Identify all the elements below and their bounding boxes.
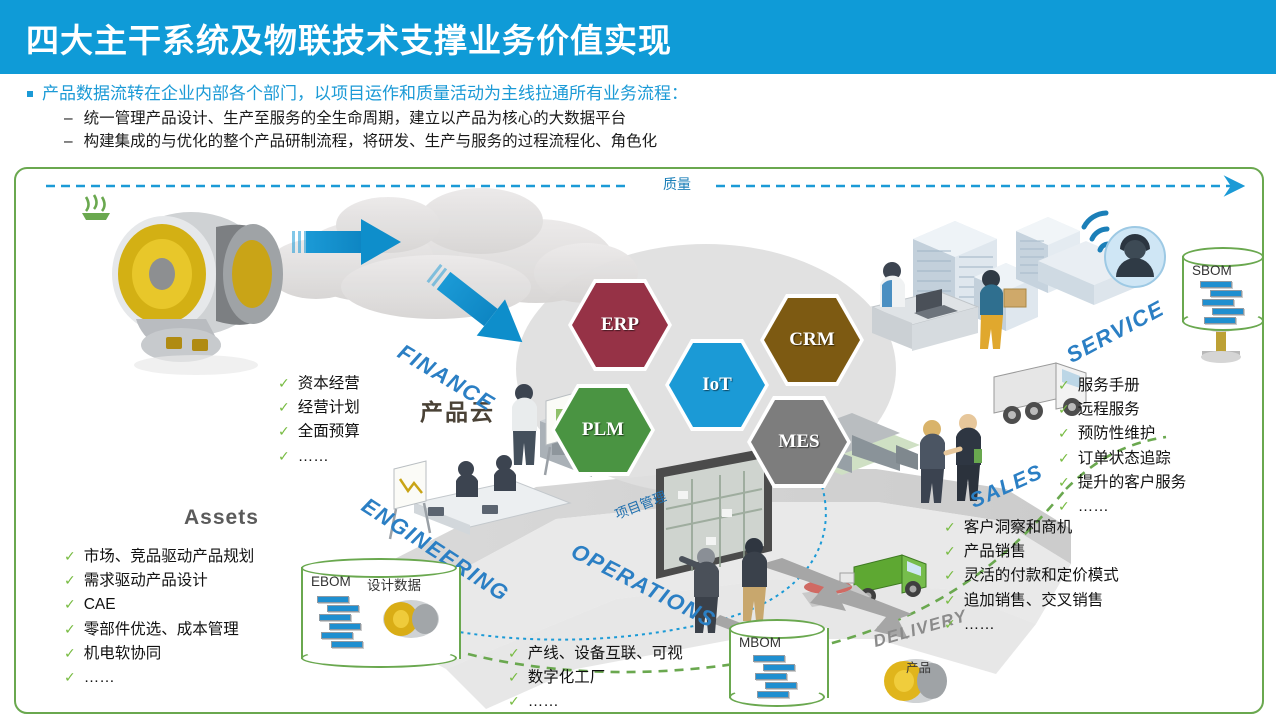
check-icon: ✓ — [508, 667, 520, 689]
check-icon: ✓ — [278, 446, 290, 468]
list-item: ✓灵活的付款和定价模式 — [944, 564, 1119, 588]
dash-bullet-icon: – — [64, 130, 73, 153]
bullet-level2-text: 构建集成的与优化的整个产品研制流程，将研发、生产与服务的过程流程化、角色化 — [84, 130, 658, 153]
check-icon: ✓ — [1058, 496, 1070, 518]
cylinder-ebom-label2: 设计数据 — [367, 574, 421, 594]
dash-bullet-icon: – — [64, 107, 73, 130]
check-icon: ✓ — [64, 570, 76, 592]
list-item-label: 产品销售 — [964, 540, 1026, 564]
check-icon: ✓ — [508, 691, 520, 713]
list-item-label: 灵活的付款和定价模式 — [964, 564, 1119, 588]
list-item: ✓市场、竞品驱动产品规划 — [64, 545, 254, 569]
checklist-finance: ✓资本经营 ✓经营计划 ✓全面预算 ✓…… — [278, 372, 360, 469]
list-item-label: 订单状态追踪 — [1078, 447, 1171, 471]
check-icon: ✓ — [944, 517, 956, 539]
assets-label: Assets — [184, 506, 259, 530]
list-item-label: 资本经营 — [298, 372, 360, 396]
jet-engine-image — [112, 212, 283, 375]
list-item: ✓资本经营 — [278, 372, 360, 396]
steam-icon — [82, 195, 110, 220]
checklist-engineering: ✓市场、竞品驱动产品规划 ✓需求驱动产品设计 ✓CAE ✓零部件优选、成本管理 … — [64, 545, 254, 690]
list-item: ✓…… — [64, 666, 254, 690]
check-icon: ✓ — [64, 619, 76, 641]
cylinder-mbom[interactable]: MBOM — [729, 619, 825, 707]
engine-thumb-icon — [379, 594, 443, 644]
list-item-label: 客户洞察和商机 — [964, 516, 1073, 540]
list-item-label: …… — [964, 613, 995, 637]
check-icon: ✓ — [64, 594, 76, 616]
bullet-level2: – 构建集成的与优化的整个产品研制流程，将研发、生产与服务的过程流程化、角色化 — [64, 130, 1250, 153]
list-item-label: …… — [1078, 495, 1109, 519]
support-agent-avatar — [1105, 227, 1165, 287]
bullet-level2-text: 统一管理产品设计、生产至服务的全生命周期，建立以产品为核心的大数据平台 — [84, 107, 627, 130]
checklist-operations: ✓产线、设备互联、可视 ✓数字化工厂 ✓…… — [508, 642, 683, 714]
documents-icon — [753, 655, 809, 703]
cylinder-sbom[interactable]: SBOM — [1182, 247, 1264, 331]
list-item: ✓…… — [508, 690, 683, 714]
list-item-label: CAE — [84, 593, 116, 617]
cylinder-ebom-label: EBOM — [311, 574, 351, 589]
check-icon: ✓ — [1058, 375, 1070, 397]
list-item-label: 经营计划 — [298, 396, 360, 420]
list-item: ✓经营计划 — [278, 396, 360, 420]
list-item: ✓产线、设备互联、可视 — [508, 642, 683, 666]
list-item: ✓产品销售 — [944, 540, 1119, 564]
list-item-label: 需求驱动产品设计 — [84, 569, 208, 593]
list-item-label: 服务手册 — [1078, 374, 1140, 398]
list-item: ✓客户洞察和商机 — [944, 516, 1119, 540]
list-item: ✓CAE — [64, 593, 254, 617]
list-item: ✓机电软协同 — [64, 642, 254, 666]
documents-icon — [317, 596, 373, 650]
checklist-service: ✓服务手册 ✓远程服务 ✓预防性维护 ✓订单状态追踪 ✓提升的客户服务 ✓…… — [1058, 374, 1186, 519]
bullet-block: 产品数据流转在企业内部各个部门，以项目运作和质量活动为主线拉通所有业务流程： –… — [20, 82, 1250, 153]
list-item-label: 产线、设备互联、可视 — [528, 642, 683, 666]
hex-iot-label: IoT — [669, 343, 765, 427]
list-item-label: 数字化工厂 — [528, 666, 606, 690]
check-icon: ✓ — [278, 421, 290, 443]
list-item-label: …… — [84, 666, 115, 690]
list-item: ✓预防性维护 — [1058, 422, 1186, 446]
list-item-label: 提升的客户服务 — [1078, 471, 1187, 495]
cylinder-bottom — [301, 648, 457, 668]
cylinder-mbom-label: MBOM — [739, 635, 781, 650]
list-item-label: 机电软协同 — [84, 642, 162, 666]
bullet-level2: – 统一管理产品设计、生产至服务的全生命周期，建立以产品为核心的大数据平台 — [64, 107, 1250, 130]
list-item-label: 市场、竞品驱动产品规划 — [84, 545, 255, 569]
list-item-label: 远程服务 — [1078, 398, 1140, 422]
list-item: ✓…… — [944, 613, 1119, 637]
check-icon: ✓ — [944, 614, 956, 636]
cylinder-sbom-label: SBOM — [1192, 263, 1232, 278]
check-icon: ✓ — [1058, 423, 1070, 445]
list-item: ✓数字化工厂 — [508, 666, 683, 690]
list-item: ✓…… — [278, 445, 360, 469]
hex-plm-label: PLM — [555, 388, 651, 472]
square-bullet-icon — [27, 91, 33, 97]
quality-flow-label: 质量 — [656, 174, 698, 194]
check-icon: ✓ — [64, 643, 76, 665]
check-icon: ✓ — [944, 590, 956, 612]
list-item-label: …… — [528, 690, 559, 714]
list-item: ✓远程服务 — [1058, 398, 1186, 422]
hex-erp-label: ERP — [572, 283, 668, 367]
check-icon: ✓ — [508, 643, 520, 665]
check-icon: ✓ — [1058, 399, 1070, 421]
check-icon: ✓ — [1058, 472, 1070, 494]
check-icon: ✓ — [64, 546, 76, 568]
check-icon: ✓ — [1058, 448, 1070, 470]
check-icon: ✓ — [64, 667, 76, 689]
list-item: ✓全面预算 — [278, 420, 360, 444]
check-icon: ✓ — [278, 397, 290, 419]
list-item: ✓…… — [1058, 495, 1186, 519]
list-item: ✓服务手册 — [1058, 374, 1186, 398]
cylinder-ebom[interactable]: EBOM 设计数据 — [301, 558, 457, 668]
bullet-level1-text: 产品数据流转在企业内部各个部门，以项目运作和质量活动为主线拉通所有业务流程： — [42, 82, 688, 107]
checklist-sales: ✓客户洞察和商机 ✓产品销售 ✓灵活的付款和定价模式 ✓追加销售、交叉销售 ✓…… — [944, 516, 1119, 637]
list-item-label: 全面预算 — [298, 420, 360, 444]
list-item: ✓订单状态追踪 — [1058, 447, 1186, 471]
list-item: ✓追加销售、交叉销售 — [944, 589, 1119, 613]
list-item-label: 预防性维护 — [1078, 422, 1156, 446]
list-item: ✓需求驱动产品设计 — [64, 569, 254, 593]
hex-mes-label: MES — [751, 400, 847, 484]
hex-crm-label: CRM — [764, 298, 860, 382]
documents-icon — [1200, 281, 1256, 327]
page-title: 四大主干系统及物联技术支撑业务价值实现 — [26, 14, 672, 62]
diagram-frame: 质量 产品云 Assets ERP CRM IoT PLM MES FINANC… — [14, 167, 1264, 714]
list-item: ✓零部件优选、成本管理 — [64, 618, 254, 642]
bullet-level1: 产品数据流转在企业内部各个部门，以项目运作和质量活动为主线拉通所有业务流程： — [20, 82, 1250, 107]
list-item: ✓提升的客户服务 — [1058, 471, 1186, 495]
check-icon: ✓ — [944, 565, 956, 587]
list-item-label: 零部件优选、成本管理 — [84, 618, 239, 642]
check-icon: ✓ — [278, 373, 290, 395]
check-icon: ✓ — [944, 541, 956, 563]
list-item-label: 追加销售、交叉销售 — [964, 589, 1104, 613]
list-item-label: …… — [298, 445, 329, 469]
product-label: 产品 — [906, 657, 931, 676]
